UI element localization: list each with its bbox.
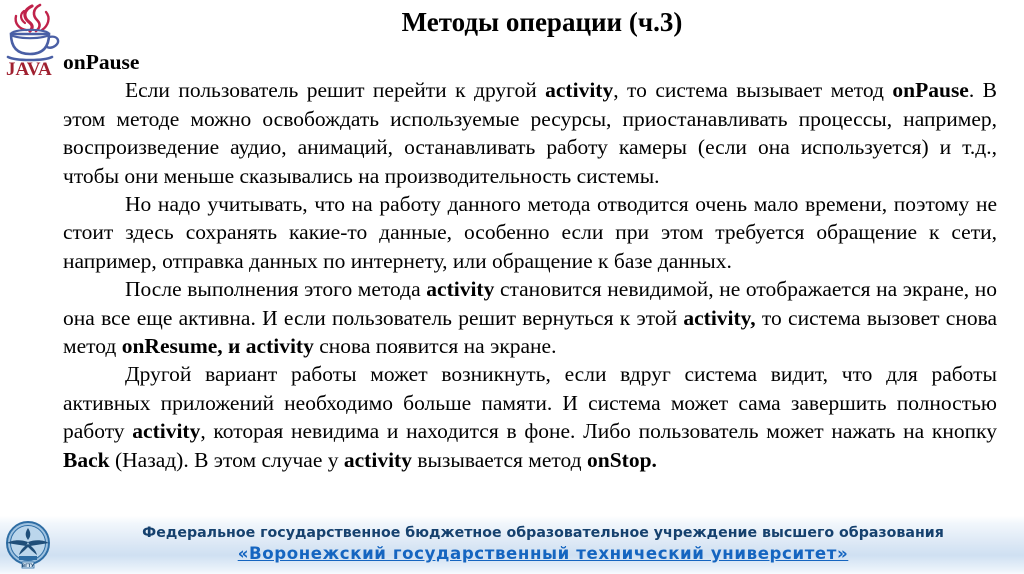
emphasis-run: activity bbox=[344, 448, 412, 472]
body-heading-term: onPause bbox=[63, 48, 997, 76]
vstu-emblem-icon: ВГТУ bbox=[2, 519, 54, 571]
java-coffee-cup-icon: JAVA bbox=[2, 2, 64, 78]
emphasis-run: activity bbox=[426, 277, 494, 301]
text-run: Если пользователь решит перейти к другой bbox=[125, 78, 545, 102]
body-paragraph-3: После выполнения этого метода activity с… bbox=[63, 275, 997, 360]
java-wordmark: JAVA bbox=[6, 59, 52, 78]
text-run: (Назад). В этом случае у bbox=[110, 448, 344, 472]
emphasis-run: onResume, и activity bbox=[122, 334, 314, 358]
text-run: снова появится на экране. bbox=[314, 334, 557, 358]
page-title: Методы операции (ч.3) bbox=[70, 6, 1014, 38]
emphasis-run: activity, bbox=[683, 306, 755, 330]
text-run: , которая невидима и находится в фоне. Л… bbox=[200, 419, 997, 443]
vstu-logo: ВГТУ bbox=[2, 519, 54, 571]
slide-footer: ВГТУ Федеральное государственное бюджетн… bbox=[0, 515, 1024, 574]
text-run: После выполнения этого метода bbox=[125, 277, 426, 301]
footer-university-link[interactable]: «Воронежский государственный технический… bbox=[68, 543, 1018, 565]
emphasis-run: activity bbox=[132, 419, 200, 443]
text-run: вызывается метод bbox=[412, 448, 587, 472]
slide-body: onPause Если пользователь решит перейти … bbox=[63, 48, 997, 474]
footer-text-block: Федеральное государственное бюджетное об… bbox=[68, 523, 1018, 565]
body-paragraph-4: Другой вариант работы может возникнуть, … bbox=[63, 360, 997, 474]
emphasis-run: Back bbox=[63, 448, 110, 472]
body-paragraph-1: Если пользователь решит перейти к другой… bbox=[63, 76, 997, 190]
slide-canvas: JAVA Методы операции (ч.3) onPause Если … bbox=[0, 0, 1024, 574]
text-run: , то система вызывает метод bbox=[613, 78, 892, 102]
vstu-abbreviation: ВГТУ bbox=[22, 563, 35, 569]
text-run: Но надо учитывать, что на работу данного… bbox=[63, 192, 997, 273]
emphasis-run: onStop. bbox=[587, 448, 657, 472]
emphasis-run: activity bbox=[545, 78, 613, 102]
java-logo: JAVA bbox=[2, 2, 64, 78]
body-paragraph-2: Но надо учитывать, что на работу данного… bbox=[63, 190, 997, 275]
footer-institution-line: Федеральное государственное бюджетное об… bbox=[68, 523, 1018, 543]
emphasis-run: onPause bbox=[892, 78, 968, 102]
